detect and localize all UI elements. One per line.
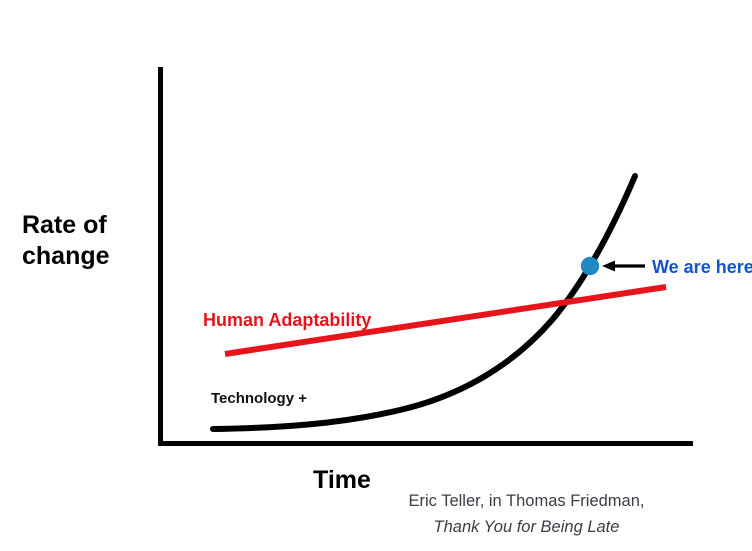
we-are-here-dot: [581, 257, 599, 275]
series-label-technology: Technology +: [211, 390, 307, 407]
chart-canvas: Rate ofchange Time Human Adaptability Te…: [0, 0, 752, 551]
attribution-source: Eric Teller, in Thomas Friedman,: [409, 492, 645, 510]
attribution-book-title: Thank You for Being Late: [355, 515, 698, 541]
we-are-here-arrow: [602, 261, 645, 272]
y-axis-label: Rate ofchange: [22, 210, 172, 271]
y-axis-label-line2: change: [22, 242, 110, 270]
attribution: Eric Teller, in Thomas Friedman, Thank Y…: [355, 489, 698, 540]
annotation-label-we-are-here: We are here: [652, 257, 752, 278]
series-label-human-adaptability: Human Adaptability: [203, 310, 371, 331]
y-axis-label-line1: Rate of: [22, 211, 107, 239]
